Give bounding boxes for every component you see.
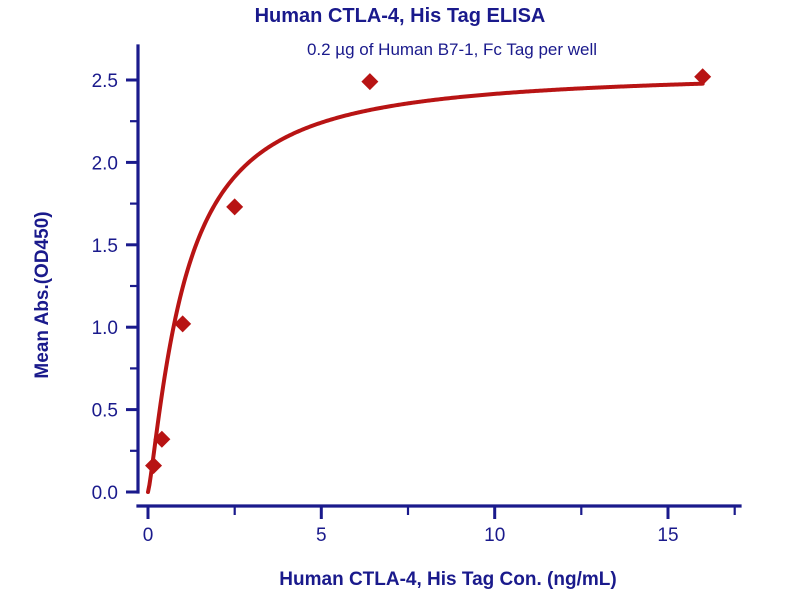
y-axis-title: Mean Abs.(OD450) — [32, 211, 53, 378]
y-tick-label-1: 0.5 — [92, 401, 118, 422]
y-tick-label-5: 2.5 — [92, 71, 118, 92]
chart-title: Human CTLA-4, His Tag ELISA — [255, 5, 546, 27]
y-tick-label-0: 0.0 — [92, 483, 118, 504]
chart-subtitle: 0.2 µg of Human B7-1, Fc Tag per well — [307, 40, 597, 59]
y-tick-label-3: 1.5 — [92, 236, 118, 257]
x-tick-label-3: 15 — [657, 525, 678, 546]
elisa-binding-chart: Human CTLA-4, His Tag ELISA 0.2 µg of Hu… — [0, 0, 800, 600]
x-axis-title: Human CTLA-4, His Tag Con. (ng/mL) — [279, 569, 616, 590]
x-tick-label-0: 0 — [143, 525, 154, 546]
y-tick-label-2: 1.0 — [92, 318, 118, 339]
y-tick-label-4: 2.0 — [92, 153, 118, 174]
x-tick-label-2: 10 — [484, 525, 505, 546]
chart-background — [0, 0, 800, 600]
x-tick-label-1: 5 — [316, 525, 327, 546]
